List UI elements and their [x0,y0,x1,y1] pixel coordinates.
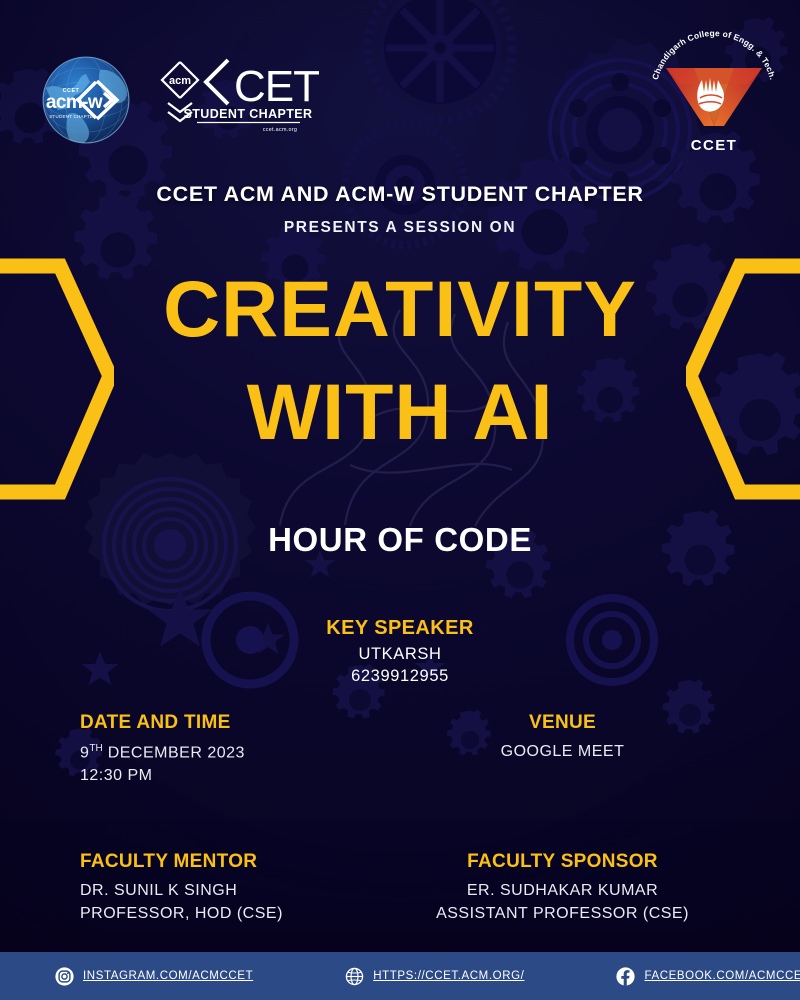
footer-bar: INSTAGRAM.COM/ACMCCET HTTPS://CCET.ACM.O… [0,952,800,1000]
ccet-abbr-text: CCET [691,137,737,154]
cet-url-text: ccet.acm.org [263,127,297,133]
faculty-sponsor-label: FACULTY SPONSOR [400,851,725,873]
chapter-heading: CCET ACM AND ACM-W STUDENT CHAPTER [0,182,800,207]
date-rest: DECEMBER 2023 [103,744,245,761]
event-poster: CCET acm-w STUDENT CHAPTER acm CET STUDE… [0,0,800,1000]
details-row-datetime-venue: DATE AND TIME 9TH DECEMBER 2023 12:30 PM… [0,712,800,785]
faculty-mentor-block: FACULTY MENTOR DR. SUNIL K SINGH PROFESS… [0,851,400,923]
event-details: DATE AND TIME 9TH DECEMBER 2023 12:30 PM… [0,712,800,923]
presents-heading: PRESENTS A SESSION ON [0,219,800,237]
date-value: 9TH DECEMBER 2023 [80,743,400,762]
footer-instagram-text: INSTAGRAM.COM/ACMCCET [83,970,253,982]
cet-sub-text: STUDENT CHAPTER [184,107,313,121]
title-line-1: CREATIVITY [120,270,680,347]
right-chevron-bracket [686,258,800,500]
faculty-mentor-label: FACULTY MENTOR [80,851,400,873]
acm-w-globe-logo: CCET acm-w STUDENT CHAPTER [34,48,138,152]
venue-block: VENUE GOOGLE MEET [400,712,800,785]
details-row-faculty: FACULTY MENTOR DR. SUNIL K SINGH PROFESS… [0,851,800,923]
title-line-2: WITH AI [120,373,680,450]
event-subtitle: HOUR OF CODE [0,521,800,559]
facebook-icon [616,967,635,986]
date-ordinal-suffix: TH [89,743,102,754]
faculty-sponsor-block: FACULTY SPONSOR ER. SUDHAKAR KUMAR ASSIS… [400,851,800,923]
cet-diamond-text: acm [169,75,191,87]
footer-facebook-link[interactable]: FACEBOOK.COM/ACMCCET [616,967,800,986]
ccet-acm-student-chapter-logo: acm CET STUDENT CHAPTER ccet.acm.org [152,50,320,136]
instagram-icon [55,967,74,986]
globe-icon [345,967,364,986]
speaker-name: UTKARSH [0,645,800,664]
footer-website-text: HTTPS://CCET.ACM.ORG/ [373,970,524,982]
left-chevron-bracket [0,258,114,500]
date-time-block: DATE AND TIME 9TH DECEMBER 2023 12:30 PM [0,712,400,785]
acmw-main-text: acm-w [46,92,103,113]
ccet-college-crest: Chandigarh College of Engg. & Tech. CCET [648,22,780,156]
footer-facebook-text: FACEBOOK.COM/ACMCCET [644,970,800,982]
speaker-phone: 6239912955 [0,667,800,686]
speaker-block: KEY SPEAKER UTKARSH 6239912955 [0,617,800,686]
time-value: 12:30 PM [80,767,400,785]
date-time-label: DATE AND TIME [80,712,400,734]
speaker-label: KEY SPEAKER [0,617,800,640]
event-title: CREATIVITY WITH AI [120,270,680,451]
venue-value: GOOGLE MEET [400,743,725,761]
acmw-bottom-text: STUDENT CHAPTER [49,114,96,119]
poster-headings: CCET ACM AND ACM-W STUDENT CHAPTER PRESE… [0,182,800,237]
date-day: 9 [80,744,89,761]
faculty-mentor-name: DR. SUNIL K SINGH [80,882,400,900]
faculty-sponsor-name: ER. SUDHAKAR KUMAR [400,882,725,900]
cet-main-text: CET [234,62,319,111]
footer-website-link[interactable]: HTTPS://CCET.ACM.ORG/ [345,967,524,986]
venue-label: VENUE [400,712,725,734]
faculty-mentor-designation: PROFESSOR, HOD (CSE) [80,905,400,923]
faculty-sponsor-designation: ASSISTANT PROFESSOR (CSE) [400,905,725,923]
footer-instagram-link[interactable]: INSTAGRAM.COM/ACMCCET [55,967,253,986]
